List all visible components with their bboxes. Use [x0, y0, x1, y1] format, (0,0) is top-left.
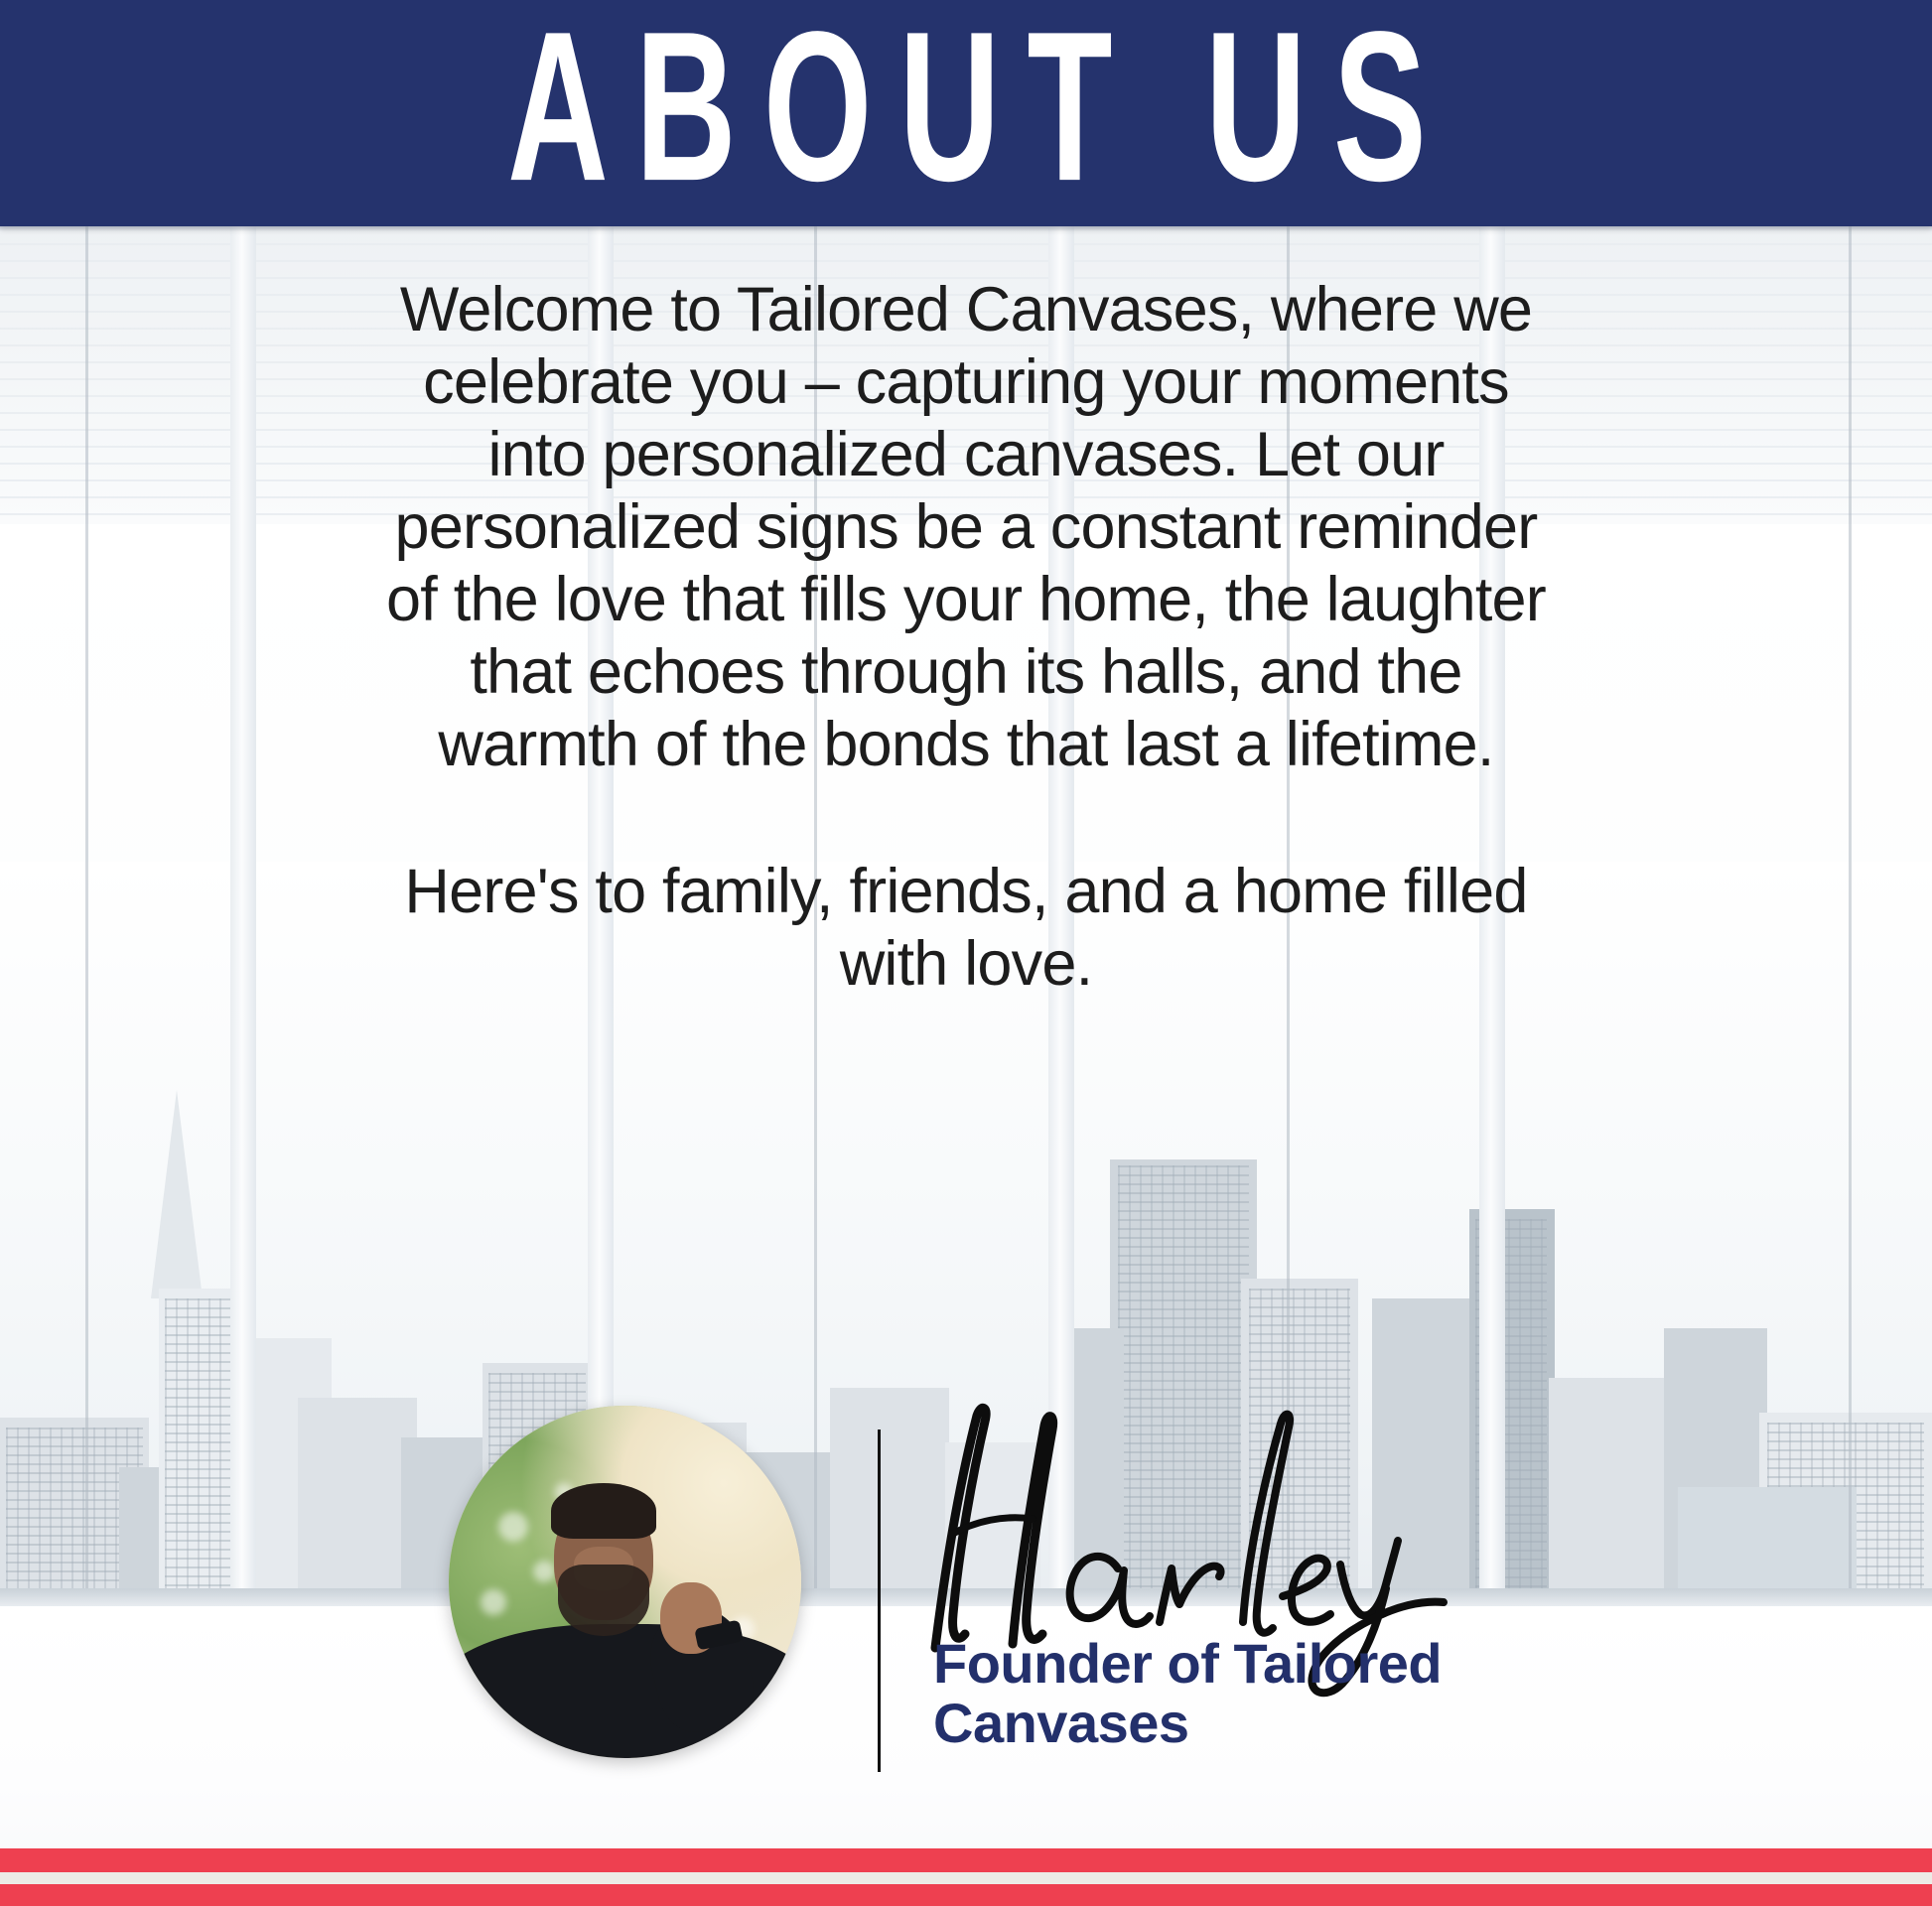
header-banner: ABOUT US: [0, 0, 1932, 226]
founder-signature: Harley: [894, 1400, 1489, 1658]
bottom-stripe-top: [0, 1848, 1932, 1872]
about-copy: Welcome to Tailored Canvases, where we c…: [380, 274, 1552, 1001]
bottom-stripe-bottom: [0, 1884, 1932, 1906]
role-line-2: Canvases: [933, 1694, 1648, 1753]
paragraph-1: Welcome to Tailored Canvases, where we c…: [380, 274, 1552, 782]
avatar-photo: [449, 1406, 801, 1758]
bottom-stripe-gap: [0, 1872, 1932, 1884]
role-line-1: Founder of Tailored: [933, 1634, 1648, 1694]
about-us-card: ABOUT US Welcome to Tailored Canvases, w…: [0, 0, 1932, 1906]
founder-role: Founder of Tailored Canvases: [933, 1634, 1648, 1754]
paragraph-spacer: [380, 782, 1552, 856]
window-mullion: [230, 226, 256, 1606]
window-mullion: [1849, 226, 1852, 1606]
paragraph-2: Here's to family, friends, and a home fi…: [380, 856, 1552, 1001]
avatar: [449, 1406, 801, 1758]
window-mullion: [85, 226, 88, 1606]
banner-underline: [0, 226, 1932, 231]
page-title: ABOUT US: [508, 1, 1454, 226]
signature-divider: [878, 1429, 881, 1772]
